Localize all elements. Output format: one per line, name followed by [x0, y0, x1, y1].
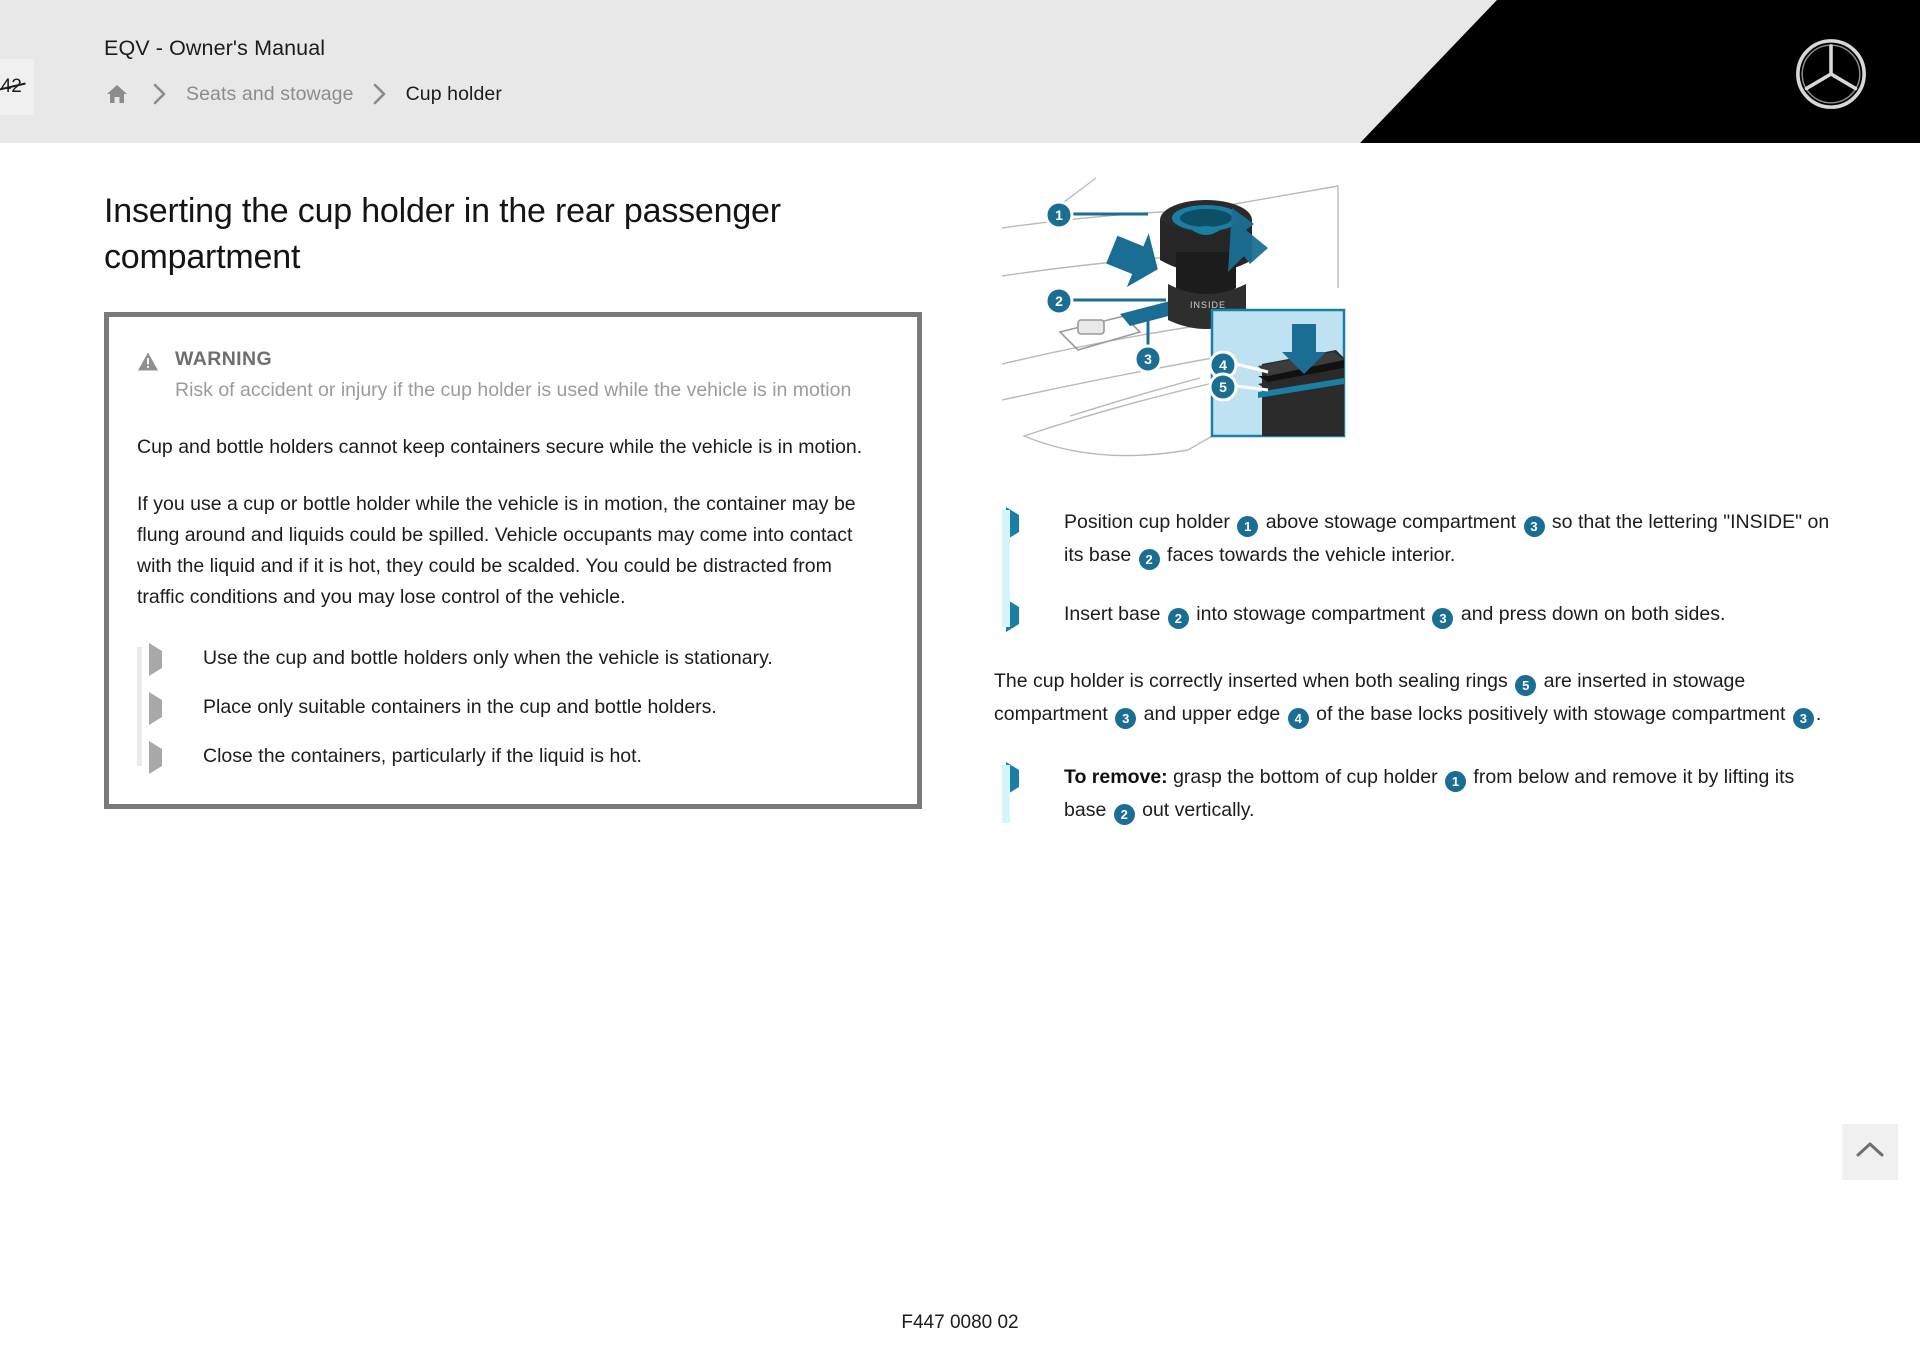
manual-title: EQV - Owner's Manual [104, 36, 325, 61]
chevron-up-icon [1855, 1140, 1885, 1165]
app-header: EQV - Owner's Manual Seats and stowage C… [0, 0, 1920, 143]
warning-header: WARNING Risk of accident or injury if th… [137, 347, 883, 406]
warning-label: WARNING [175, 347, 883, 371]
callout-ref-1: 1 [1445, 771, 1466, 792]
svg-text:1: 1 [1055, 207, 1063, 223]
svg-text:4: 4 [1219, 357, 1227, 373]
breadcrumb-item-cup-holder[interactable]: Cup holder [406, 83, 502, 106]
mercedes-benz-star-icon [1795, 38, 1867, 110]
document-code: F447 0080 02 [0, 1312, 1920, 1334]
svg-text:5: 5 [1219, 379, 1227, 395]
warning-paragraph-1: Cup and bottle holders cannot keep conta… [137, 432, 883, 463]
scroll-to-top-button[interactable] [1842, 1124, 1898, 1180]
callout-ref-3: 3 [1432, 608, 1453, 629]
warning-list-item-text: Close the containers, particularly if th… [203, 741, 642, 772]
remove-step-text: To remove: grasp the bottom of cup holde… [1064, 761, 1834, 827]
chevron-right-icon-1 [134, 83, 186, 105]
page-number-button[interactable]: 242 [0, 59, 34, 115]
svg-text:3: 3 [1144, 351, 1152, 367]
triangle-bullet-icon [149, 643, 203, 674]
triangle-bullet-icon [1006, 761, 1064, 827]
warning-list-item-text: Place only suitable containers in the cu… [203, 692, 717, 723]
warning-list-item-text: Use the cup and bottle holders only when… [203, 643, 773, 674]
warning-list-item: Place only suitable containers in the cu… [149, 692, 883, 723]
callout-1: 1 [1044, 200, 1074, 235]
warning-triangle-icon [137, 351, 159, 373]
home-icon[interactable] [100, 81, 134, 107]
callout-ref-2: 2 [1139, 549, 1160, 570]
callout-ref-2: 2 [1168, 608, 1189, 629]
instruction-step-list: Position cup holder 1 above stowage comp… [994, 506, 1834, 631]
triangle-bullet-icon [1006, 598, 1064, 631]
callout-ref-5: 5 [1515, 675, 1536, 696]
callout-ref-3: 3 [1115, 708, 1136, 729]
callout-ref-2: 2 [1114, 804, 1135, 825]
instruction-step: Position cup holder 1 above stowage comp… [1006, 506, 1834, 572]
chevron-right-icon-2 [354, 83, 406, 105]
remove-step: To remove: grasp the bottom of cup holde… [1006, 761, 1834, 827]
warning-list-item: Close the containers, particularly if th… [149, 741, 883, 772]
callout-ref-1: 1 [1237, 516, 1258, 537]
warning-subtitle: Risk of accident or injury if the cup ho… [175, 375, 865, 406]
callout-5: 5 [1208, 372, 1238, 407]
page-title: Inserting the cup holder in the rear pas… [104, 188, 934, 280]
instruction-step-text: Insert base 2 into stowage compartment 3… [1064, 598, 1725, 631]
warning-box: WARNING Risk of accident or injury if th… [104, 312, 922, 809]
callout-ref-4: 4 [1288, 708, 1309, 729]
triangle-bullet-icon [149, 741, 203, 772]
callout-2: 2 [1044, 286, 1074, 321]
warning-list-item: Use the cup and bottle holders only when… [149, 643, 883, 674]
breadcrumb: Seats and stowage Cup holder [100, 78, 502, 110]
warning-bullet-list: Use the cup and bottle holders only when… [137, 643, 883, 772]
remove-instruction-list: To remove: grasp the bottom of cup holde… [994, 761, 1834, 827]
instruction-step-text: Position cup holder 1 above stowage comp… [1064, 506, 1834, 572]
confirmation-note: The cup holder is correctly inserted whe… [994, 665, 1824, 731]
callout-ref-3: 3 [1793, 708, 1814, 729]
left-column: Inserting the cup holder in the rear pas… [104, 188, 924, 809]
callout-ref-3: 3 [1524, 516, 1545, 537]
right-column: INSIDE [994, 168, 1834, 827]
callout-3: 3 [1133, 344, 1163, 379]
warning-paragraph-2: If you use a cup or bottle holder while … [137, 489, 883, 613]
breadcrumb-item-seats-and-stowage[interactable]: Seats and stowage [186, 83, 354, 106]
base-lettering: INSIDE [1190, 300, 1226, 310]
cup-holder-rear-compartment-diagram: INSIDE [1000, 168, 1400, 488]
triangle-bullet-icon [1006, 506, 1064, 572]
document-page: Inserting the cup holder in the rear pas… [0, 143, 1920, 1358]
triangle-bullet-icon [149, 692, 203, 723]
svg-text:2: 2 [1055, 293, 1063, 309]
instruction-step: Insert base 2 into stowage compartment 3… [1006, 598, 1834, 631]
